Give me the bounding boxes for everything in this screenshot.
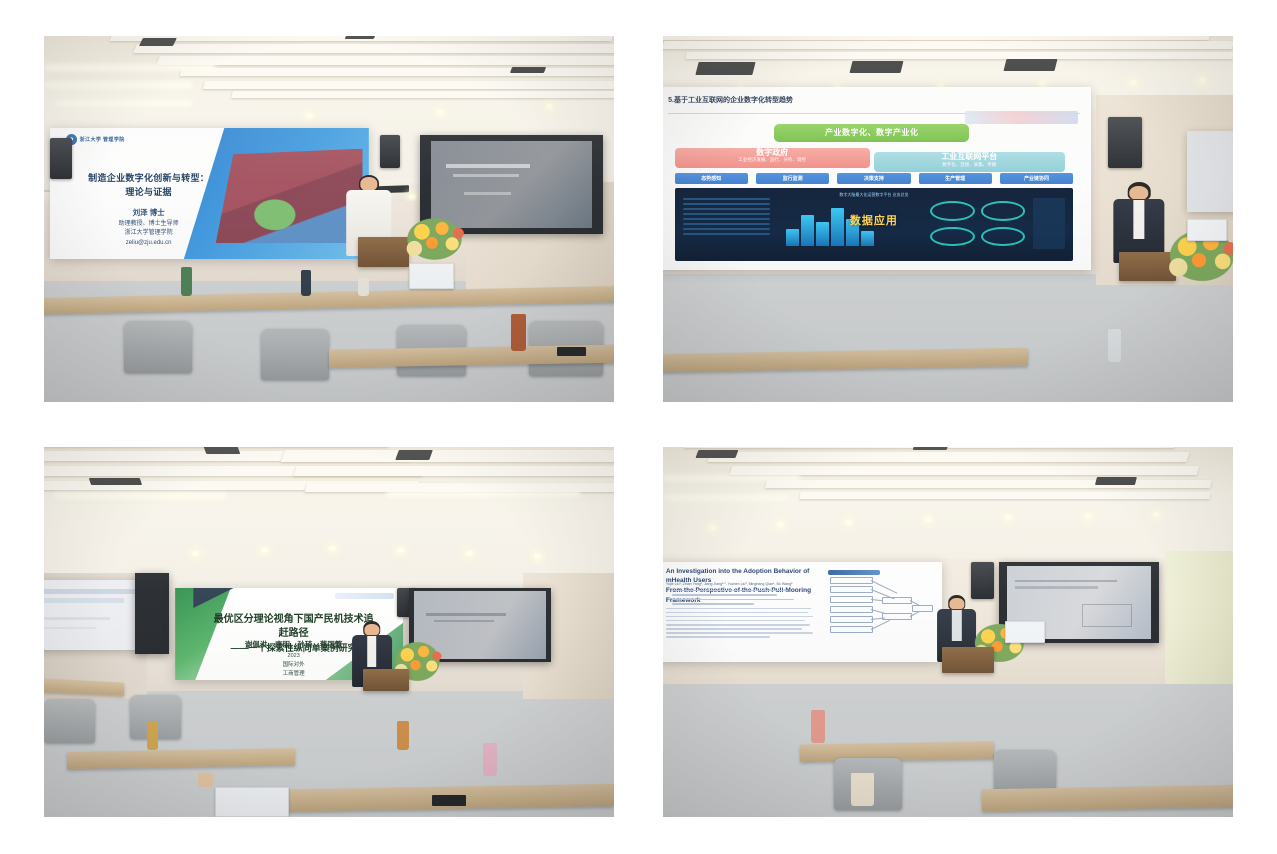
wall-speaker-left xyxy=(50,138,73,178)
slide-cyan-box-sub: 数字化、连接、采集、传输 xyxy=(874,162,1065,168)
photo-grid: 浙江大学 管理学院 制造企业数字化创新与转型： 理论与证据 刘泽 博士 助理教授… xyxy=(0,0,1277,854)
wall-speaker xyxy=(1108,117,1142,168)
slide-meta-2: 国际对外 xyxy=(283,662,305,668)
desk-row-2 xyxy=(44,286,614,315)
lectern xyxy=(363,669,409,691)
right-wall xyxy=(1165,551,1233,684)
laptop xyxy=(409,263,455,289)
slide-chip-row: 态势感知 监行监测 决策支持 生产管理 产业链协同 xyxy=(675,173,1074,184)
slide-logo-text: 浙江大学 管理学院 xyxy=(80,136,125,143)
slide-dashboard: 数字大脑最大化运营数字平台 业务总览 数据应用 xyxy=(675,188,1074,261)
laptop xyxy=(1187,219,1227,241)
lecture-hall-photo-top-right[interactable]: 5.基于工业互联网的企业数字化转型趋势 产业数字化、数字产业化 数字政府 工业经… xyxy=(663,36,1233,402)
desk-row-front xyxy=(982,785,1233,812)
main-projection-screen: 浙江大学 管理学院 制造企业数字化创新与转型： 理论与证据 刘泽 博士 助理教授… xyxy=(50,128,369,260)
lecture-hall-photo-bottom-left[interactable]: 最优区分理论视角下国产民机技术追赶路径 ——一个探索性纵向单案例研究 谢佩洪、唐… xyxy=(44,447,614,817)
slide-brand-strip xyxy=(965,111,1078,124)
smartphone xyxy=(557,347,586,356)
slide-affiliation-2: 浙江大学管理学院 xyxy=(125,230,173,236)
water-bottle xyxy=(301,270,311,296)
slide-paragraph xyxy=(666,608,814,641)
scene-top-right: 5.基于工业互联网的企业数字化转型趋势 产业数字化、数字产业化 数字政府 工业经… xyxy=(663,36,1233,402)
slide-chip: 监行监测 xyxy=(756,173,829,184)
lectern xyxy=(942,647,993,673)
slide-cyan-box-title: 工业互联网平台 xyxy=(874,153,1065,162)
scene-bottom-left: 最优区分理论视角下国产民机技术追赶路径 ——一个探索性纵向单案例研究 谢佩洪、唐… xyxy=(44,447,614,817)
dashboard-donut-charts xyxy=(930,201,1026,246)
slide-cyan-box: 工业互联网平台 数字化、连接、采集、传输 xyxy=(874,152,1065,172)
slide-chip: 态势感知 xyxy=(675,173,748,184)
slide-presenter: 刘泽 博士 xyxy=(66,207,232,219)
slide-chip: 决策支持 xyxy=(837,173,910,184)
slide-affiliation-1: 助理教授、博士生导师 xyxy=(119,221,179,227)
slide-header: 5.基于工业互联网的企业数字化转型趋势 xyxy=(668,95,793,105)
screen-frame-left xyxy=(135,573,169,654)
slide-meta-1: 2023 xyxy=(288,653,300,659)
scene-bottom-right: An Investigation into the Adoption Behav… xyxy=(663,447,1233,817)
cup xyxy=(198,773,213,788)
chair xyxy=(44,699,95,743)
ceiling xyxy=(663,447,1233,573)
slide-logo: 浙江大学 管理学院 xyxy=(66,134,125,145)
travel-mug xyxy=(851,773,874,806)
desk-row xyxy=(663,347,1028,372)
slide-bullets xyxy=(672,590,815,608)
slide-title-line2: 理论与证据 xyxy=(125,187,172,197)
water-bottle xyxy=(483,743,497,776)
dashboard-side-panel xyxy=(1033,198,1065,249)
slide-presenter-block: 刘泽 博士 助理教授、博士生导师 浙江大学管理学院 zeliu@zju.edu.… xyxy=(66,207,232,249)
flower-arrangement xyxy=(403,215,466,263)
slide-affiliation-3: zeliu@zju.edu.cn xyxy=(126,240,172,246)
scene-top-left: 浙江大学 管理学院 制造企业数字化创新与转型： 理论与证据 刘泽 博士 助理教授… xyxy=(44,36,614,402)
slide-title: 制造企业数字化创新与转型： 理论与证据 xyxy=(66,172,232,199)
slide-path-model-figure xyxy=(828,576,931,648)
presenter-figure xyxy=(1113,182,1164,263)
water-bottle xyxy=(397,721,408,751)
slide-meta: 2023 国际对外 工商管理 xyxy=(239,652,348,678)
slide-red-box: 数字政府 工业经济发展、监行、分析、调控 xyxy=(675,148,870,168)
slide-chip: 生产管理 xyxy=(919,173,992,184)
slide-badge xyxy=(828,570,879,575)
slide-meta-3: 工商管理 xyxy=(283,671,305,677)
slide-title-line1: 制造企业数字化创新与转型： xyxy=(88,173,209,183)
main-projection-screen: 5.基于工业互联网的企业数字化转型趋势 产业数字化、数字产业化 数字政府 工业经… xyxy=(663,87,1091,270)
side-projection-screen xyxy=(1187,131,1233,212)
chair xyxy=(124,321,192,372)
chair xyxy=(261,329,329,380)
slide-badge xyxy=(335,593,394,599)
side-projection-screen-left xyxy=(44,580,147,650)
laptop xyxy=(215,787,289,817)
water-bottle xyxy=(811,710,825,743)
main-projection-screen: An Investigation into the Adoption Behav… xyxy=(663,562,942,662)
lectern xyxy=(358,237,409,266)
water-bottle xyxy=(181,267,192,296)
wall-speaker xyxy=(971,562,994,599)
slide-chip: 产业链协同 xyxy=(1000,173,1073,184)
slide-authors: Yujie Liu¹, Zihan Yang², Jiang Jiang¹·²,… xyxy=(666,582,814,586)
lecture-hall-photo-top-left[interactable]: 浙江大学 管理学院 制造企业数字化创新与转型： 理论与证据 刘泽 博士 助理教授… xyxy=(44,36,614,402)
water-bottle xyxy=(147,721,158,751)
desk-row-mid xyxy=(67,748,295,769)
water-bottle xyxy=(1108,329,1122,362)
slide-red-box-sub: 工业经济发展、监行、分析、调控 xyxy=(675,157,870,163)
dashboard-title: 数据应用 xyxy=(850,212,898,228)
laptop xyxy=(1005,621,1045,643)
lecture-hall-photo-bottom-right[interactable]: An Investigation into the Adoption Behav… xyxy=(663,447,1233,817)
slide-title-line1: 最优区分理论视角下国产民机技术追赶路径 xyxy=(214,614,374,640)
smartphone xyxy=(432,795,466,806)
dashboard-list xyxy=(683,198,771,238)
thermos-bottle xyxy=(511,314,526,351)
wall-speaker-right xyxy=(380,135,400,168)
paper-cup xyxy=(358,278,369,296)
slide-green-banner: 产业数字化、数字产业化 xyxy=(774,124,969,142)
dashboard-caption: 数字大脑最大化运营数字平台 业务总览 xyxy=(839,192,908,198)
